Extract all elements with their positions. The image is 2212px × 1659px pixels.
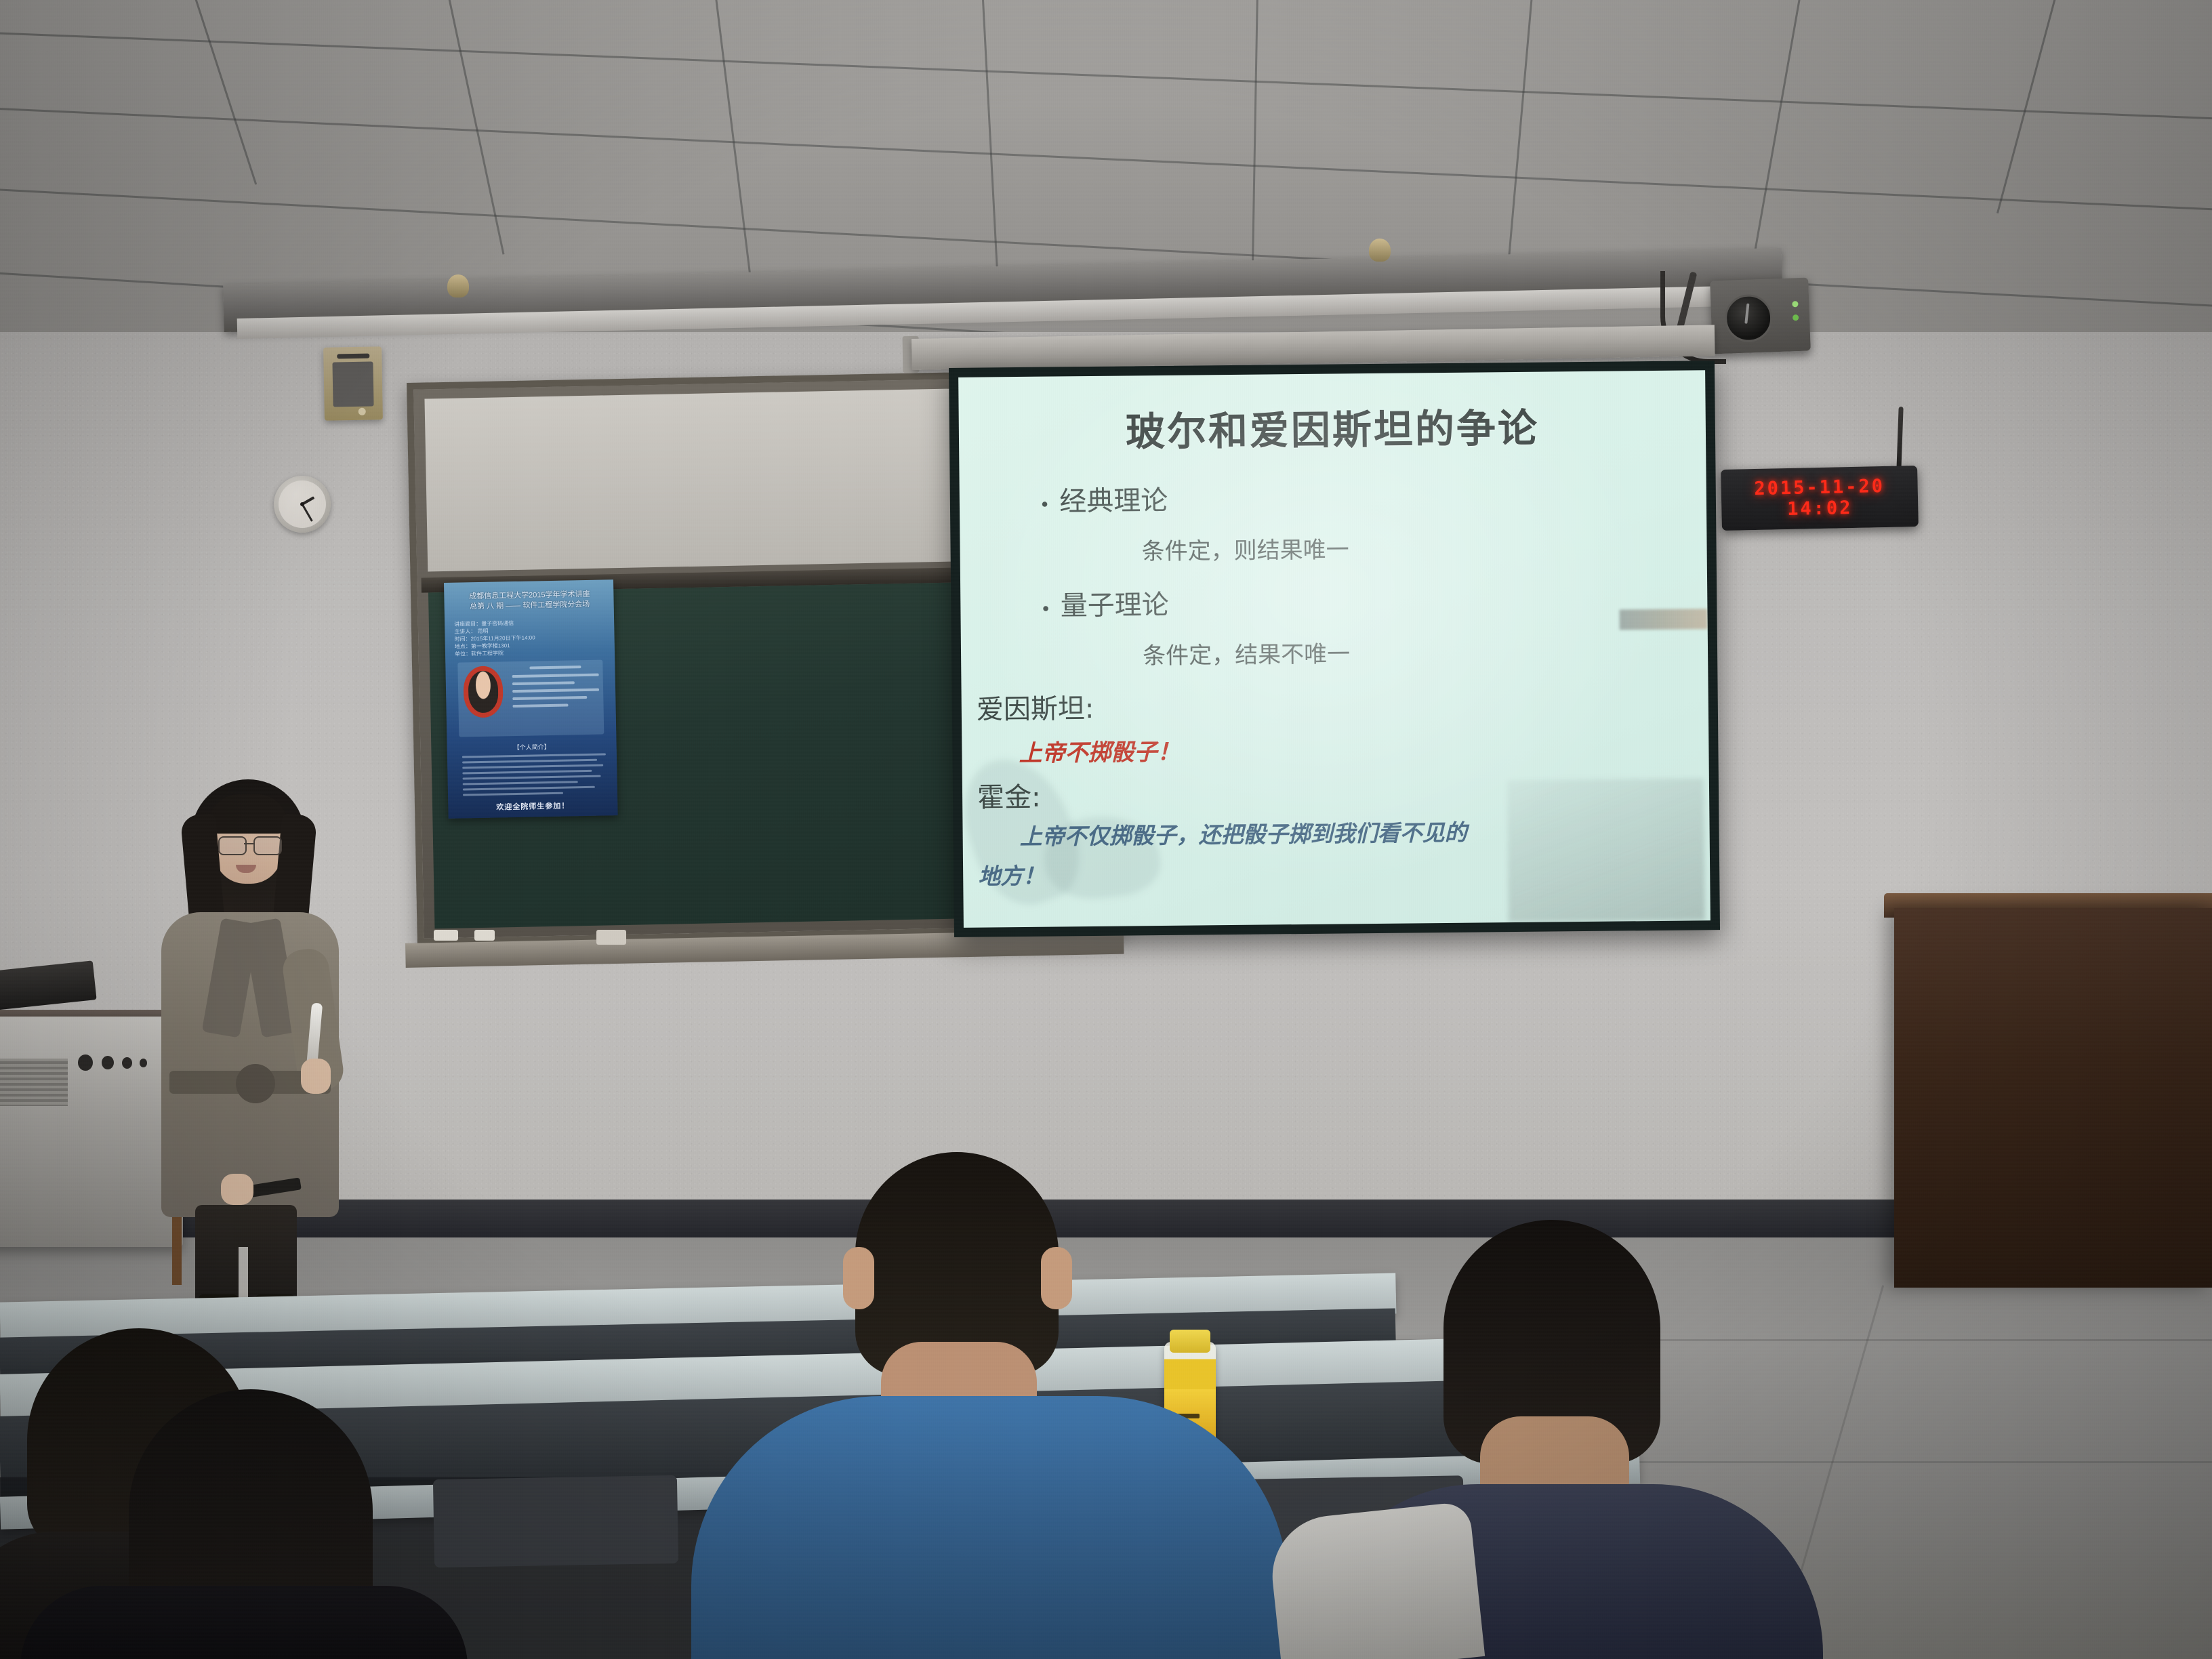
slide-title: 玻尔和爱因斯坦的争论 (958, 394, 1706, 459)
bullet-dot-icon: • (1040, 497, 1050, 514)
led-clock-time: 14:02 (1787, 497, 1853, 520)
poster-abstract-card (457, 660, 604, 737)
presenter (156, 779, 346, 1308)
presenter-hand-right (301, 1059, 331, 1094)
led-clock-display: 2015-11-20 14:02 (1721, 466, 1919, 531)
ceiling-projector (1710, 278, 1811, 354)
lecture-announcement-poster: 成都信息工程大学2015学年学术讲座 总第 八 期 —— 软件工程学院分会场 讲… (444, 579, 618, 819)
clock-center-pin (300, 502, 304, 506)
audience-ear-right (1041, 1247, 1072, 1309)
seat-back (433, 1475, 678, 1568)
glasses-lens-left (218, 836, 247, 855)
poster-footer: 欢迎全院师生参加！ (448, 799, 617, 813)
led-clock-date: 2015-11-20 (1754, 476, 1885, 499)
slide-bullet-2-detail: 条件定，结果不唯一 (1143, 635, 1350, 670)
speaker-vent (337, 354, 369, 359)
eraser[interactable] (596, 930, 626, 945)
slide-background-photo (1507, 778, 1705, 922)
poster-bio-lines (462, 753, 607, 799)
presenter-hand-left (221, 1174, 253, 1205)
projector-lens-icon (1724, 293, 1773, 342)
console-vent (0, 1059, 68, 1106)
beam-knob (1369, 239, 1391, 262)
wooden-podium: 成都信息工程大学 CUIT Chengdu University of Info… (1894, 908, 2212, 1288)
glasses-bridge (244, 843, 253, 844)
speaker-grille (332, 361, 373, 407)
projector-status-led (1792, 301, 1798, 307)
coat-belt-knot (236, 1064, 275, 1103)
glasses-lens-right (253, 836, 282, 855)
poster-heading-line2: 总第 八 期 —— 软件工程学院分会场 (453, 599, 607, 612)
slide-bullet-1-label: 经典理论 (1059, 478, 1168, 519)
audience-shoulders-center-blue (691, 1396, 1288, 1659)
console-button[interactable] (78, 1054, 93, 1071)
slide-hawking-quote-line2: 地方！ (978, 855, 1046, 898)
bullet-dot-icon: • (1040, 601, 1051, 619)
slide-einstein-speaker: 爱因斯坦: (977, 687, 1094, 727)
projector-power-led (1793, 314, 1799, 321)
chalk-piece[interactable] (474, 930, 495, 941)
slide-hawking-quote-line1: 上帝不仅掷骰子，还把骰子掷到我们看不见的 (1019, 812, 1467, 858)
console-button[interactable] (102, 1056, 114, 1069)
poster-meta-unit: 单位：软件工程学院 (455, 649, 535, 657)
analog-wall-clock (274, 476, 331, 533)
projection-screen: 玻尔和爱因斯坦的争论 • 经典理论 条件定，则结果唯一 • 量子理论 条件定，结… (949, 361, 1720, 937)
poster-meta: 讲座题目：量子密码通信 主讲人： 范明 时间：2015年11月20日下午14:0… (454, 619, 535, 657)
presenter-fringe (209, 794, 287, 834)
wall-speaker (323, 346, 383, 420)
poster-speaker-photo (463, 665, 503, 718)
slide-background-strip (1619, 609, 1707, 630)
poster-abstract-lines (512, 665, 599, 712)
console-button[interactable] (140, 1059, 147, 1067)
slide-bullet-1-detail: 条件定，则结果唯一 (1141, 531, 1349, 566)
beam-knob (447, 274, 469, 298)
slide-bullet-2: • 量子理论 (1040, 583, 1169, 623)
slide-einstein-quote: 上帝不掷骰子！ (1019, 733, 1180, 768)
speaker-volume-knob[interactable] (359, 408, 366, 415)
console-button[interactable] (122, 1057, 132, 1069)
audience-shoulders-left (20, 1586, 468, 1659)
audience-ear-left (843, 1247, 874, 1309)
slide-hawking-speaker: 霍金: (977, 775, 1041, 815)
slide-bullet-2-label: 量子理论 (1060, 583, 1169, 623)
poster-bio-heading: 【个人简介】 (447, 741, 617, 753)
presentation-slide: 玻尔和爱因斯坦的争论 • 经典理论 条件定，则结果唯一 • 量子理论 条件定，结… (958, 370, 1711, 928)
chalk-piece[interactable] (434, 930, 458, 941)
presenter-glasses (218, 836, 279, 853)
poster-heading: 成都信息工程大学2015学年学术讲座 总第 八 期 —— 软件工程学院分会场 (452, 589, 607, 612)
lecture-hall-photo: 成都信息工程大学2015学年学术讲座 总第 八 期 —— 软件工程学院分会场 讲… (0, 0, 2212, 1659)
slide-bullet-1: • 经典理论 (1040, 478, 1168, 519)
bottle-cap[interactable] (1170, 1330, 1210, 1353)
